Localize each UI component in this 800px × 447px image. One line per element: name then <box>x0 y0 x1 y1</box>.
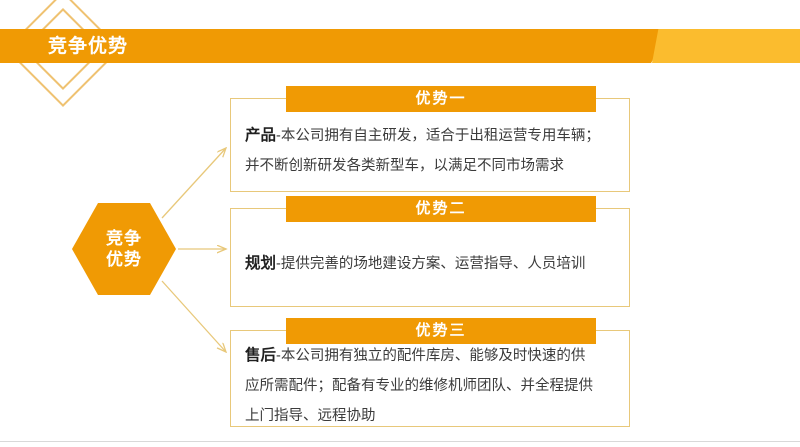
card-1-tab-label: 优势一 <box>415 86 466 112</box>
card-1-text-1: -本公司拥有自主研发，适合于出租运营专用车辆； <box>276 128 600 144</box>
footer-divider <box>0 441 800 442</box>
advantage-card-2[interactable]: 优势二 规划-提供完善的场地建设方案、运营指导、人员培训 <box>230 208 630 307</box>
card-1-line-1: 产品-本公司拥有自主研发，适合于出租运营专用车辆； <box>245 121 615 151</box>
header-band-light <box>652 29 800 63</box>
advantage-card-3[interactable]: 优势三 售后-本公司拥有独立的配件库房、能够及时快速的供 应所需配件；配备有专业… <box>230 330 630 427</box>
card-3-line-2: 应所需配件；配备有专业的维修机师团队、并全程提供 <box>245 371 615 401</box>
card-2-tab-label: 优势二 <box>415 196 466 222</box>
card-3-body: 售后-本公司拥有独立的配件库房、能够及时快速的供 应所需配件；配备有专业的维修机… <box>231 341 629 431</box>
card-1-line-2: 并不断创新研发各类新型车，以满足不同市场需求 <box>245 151 615 181</box>
page-title: 竞争优势 <box>48 30 128 63</box>
card-2-text-1: -提供完善的场地建设方案、运营指导、人员培训 <box>276 256 585 272</box>
card-2-body: 规划-提供完善的场地建设方案、运营指导、人员培训 <box>231 249 629 279</box>
hub-node-competitive-advantage[interactable]: 竞争 优势 <box>72 203 176 295</box>
card-3-line-1: 售后-本公司拥有独立的配件库房、能够及时快速的供 <box>245 341 615 371</box>
card-2-line-1: 规划-提供完善的场地建设方案、运营指导、人员培训 <box>245 249 615 279</box>
hub-label-line-2: 优势 <box>106 249 142 270</box>
card-3-lead: 售后 <box>245 347 276 364</box>
card-1-tab: 优势一 <box>286 86 596 112</box>
card-2-tab: 优势二 <box>286 196 596 222</box>
card-3-line-3: 上门指导、远程协助 <box>245 401 615 431</box>
advantage-card-1[interactable]: 优势一 产品-本公司拥有自主研发，适合于出租运营专用车辆； 并不断创新研发各类新… <box>230 98 630 192</box>
card-2-lead: 规划 <box>245 255 276 272</box>
card-1-body: 产品-本公司拥有自主研发，适合于出租运营专用车辆； 并不断创新研发各类新型车，以… <box>231 121 629 181</box>
hub-label-line-1: 竞争 <box>106 228 142 249</box>
card-3-text-1: -本公司拥有独立的配件库房、能够及时快速的供 <box>276 348 585 364</box>
card-1-lead: 产品 <box>245 127 276 144</box>
slide-canvas: 竞争优势 竞争 优势 优势一 产品-本公司拥有自主研发，适合于出租运营专用车辆；… <box>0 0 800 447</box>
